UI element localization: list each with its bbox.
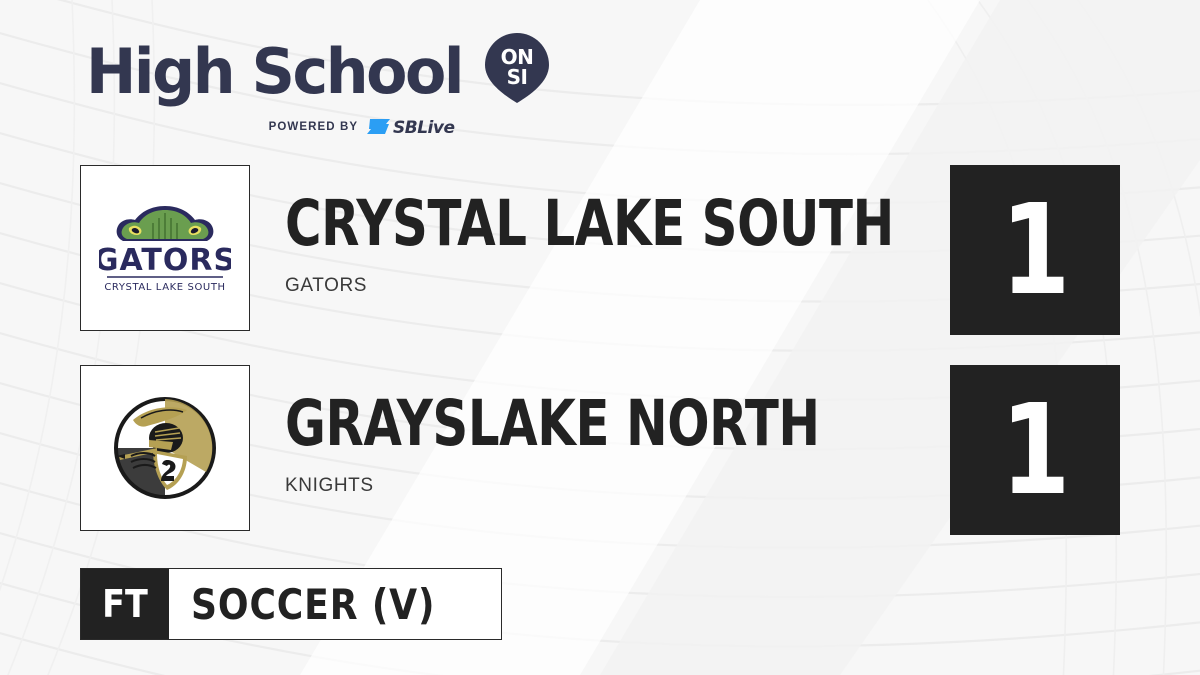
team-score: 1: [1000, 188, 1070, 313]
powered-by-label: POWERED BY: [269, 121, 359, 133]
sblive-wordmark: SBLive: [393, 118, 454, 137]
onsi-pin-icon: ON SI: [484, 32, 550, 109]
team-info: GRAYSLAKE NORTH KNIGHTS: [285, 393, 985, 497]
team-name: GRAYSLAKE NORTH: [285, 391, 866, 457]
brand-header: High School ON SI POWERED BY SBLive: [86, 34, 550, 137]
sblive-logo: SBLive: [367, 116, 471, 137]
sport-label: SOCCER (V): [191, 580, 435, 629]
team-score-box: 1: [950, 365, 1120, 535]
powered-by-row: POWERED BY SBLive: [190, 116, 550, 137]
brand-row: High School ON SI: [86, 34, 550, 109]
team-mascot: KNIGHTS: [285, 475, 985, 497]
sport-label-box: SOCCER (V): [169, 569, 501, 639]
status-code-label: FT: [102, 582, 148, 626]
gators-logo: GATORS CRYSTAL LAKE SOUTH: [99, 200, 231, 296]
pin-label-bottom: SI: [506, 65, 527, 89]
game-status-bar: FT SOCCER (V): [80, 568, 502, 640]
status-badge: FT: [81, 569, 169, 639]
logo-main-text: GATORS: [99, 243, 231, 278]
team-name: CRYSTAL LAKE SOUTH: [285, 191, 866, 257]
brand-title: High School: [86, 41, 462, 103]
team-logo-box: [80, 365, 250, 531]
knights-logo: [111, 394, 219, 502]
team-logo-box: GATORS CRYSTAL LAKE SOUTH: [80, 165, 250, 331]
team-score: 1: [1000, 388, 1070, 513]
team-score-box: 1: [950, 165, 1120, 335]
logo-sub-text: CRYSTAL LAKE SOUTH: [104, 282, 225, 293]
team-info: CRYSTAL LAKE SOUTH GATORS: [285, 193, 985, 297]
team-mascot: GATORS: [285, 275, 985, 297]
scoreboard-graphic: High School ON SI POWERED BY SBLive: [0, 0, 1200, 675]
